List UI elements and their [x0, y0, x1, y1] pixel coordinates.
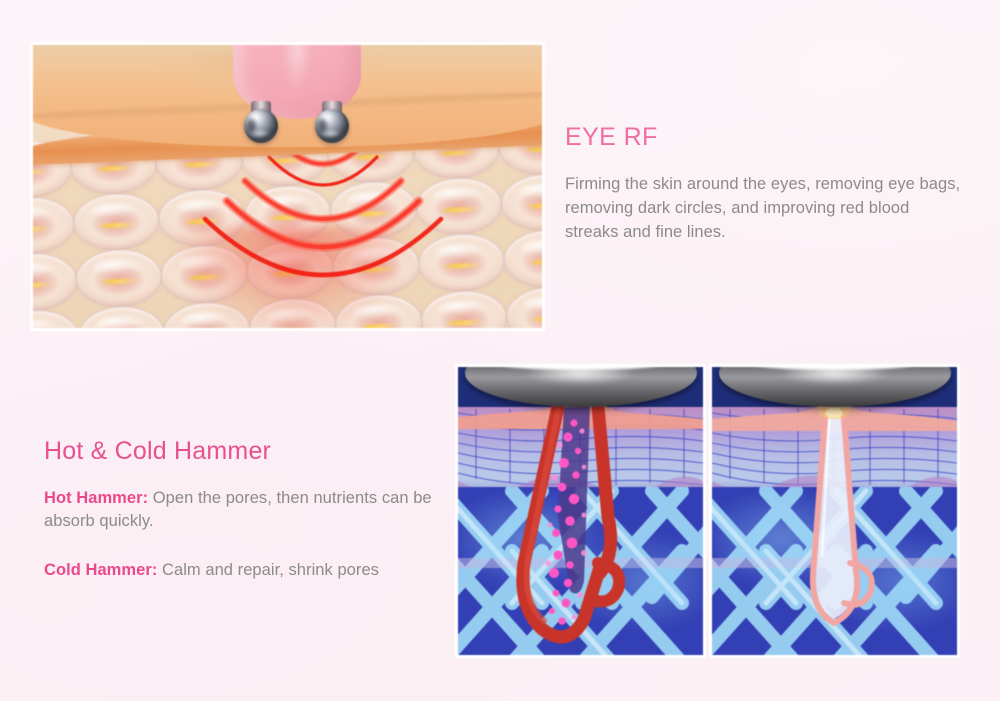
fat-cell [334, 293, 422, 328]
eye-rf-text-block: EYE RF Firming the skin around the eyes,… [565, 124, 977, 245]
fat-cell [329, 180, 417, 240]
hot-cold-text-block: Hot & Cold Hammer Hot Hammer: Open the p… [44, 438, 464, 583]
fat-cell [75, 248, 163, 308]
fat-cell [417, 232, 505, 292]
skin-body [712, 407, 957, 655]
collagen-lattice [458, 487, 703, 655]
rf-electrode-left [244, 101, 278, 143]
fat-cell [163, 300, 251, 328]
fat-cell [503, 228, 542, 288]
fat-cell-grid [33, 141, 542, 328]
applicator-center-glare [779, 367, 890, 384]
epidermis-stripes [712, 407, 957, 495]
applicator-center-glare [525, 367, 636, 384]
fat-cell [415, 176, 503, 236]
fat-cell [158, 188, 246, 248]
collagen-lattice [712, 487, 957, 655]
fat-cell [33, 195, 75, 255]
electrode-sphere [315, 109, 349, 143]
cold-hammer-row: Cold Hammer: Calm and repair, shrink por… [44, 559, 464, 583]
hot-cold-title: Hot & Cold Hammer [44, 438, 464, 466]
fat-cell [246, 240, 334, 300]
fat-cell [500, 172, 542, 232]
eye-rf-title: EYE RF [565, 124, 977, 152]
cold-hammer-text: Calm and repair, shrink pores [157, 561, 379, 579]
hot-hammer-label: Hot Hammer: [44, 489, 148, 507]
fat-cell [33, 308, 80, 328]
fat-cell [161, 244, 249, 304]
eye-rf-illustration [33, 45, 542, 328]
fat-cell [249, 296, 337, 328]
hot-hammer-row: Hot Hammer: Open the pores, then nutrien… [44, 487, 464, 535]
cold-hammer-illustration [712, 367, 957, 655]
fat-cell [244, 184, 332, 244]
eye-rf-description: Firming the skin around the eyes, removi… [565, 172, 965, 245]
cold-hammer-label: Cold Hammer: [44, 561, 157, 579]
fat-cell [420, 289, 508, 328]
fat-cell [332, 236, 420, 296]
skin-body [458, 407, 703, 655]
fat-cell [72, 191, 160, 251]
rf-electrode-right [315, 101, 349, 143]
fat-cell-layer [33, 141, 542, 328]
fat-cell [33, 252, 77, 312]
electrode-sphere [244, 109, 278, 143]
epidermis-stripes [458, 407, 703, 495]
fat-cell [77, 304, 165, 328]
hot-hammer-illustration [458, 367, 703, 655]
fat-cell [506, 285, 542, 328]
